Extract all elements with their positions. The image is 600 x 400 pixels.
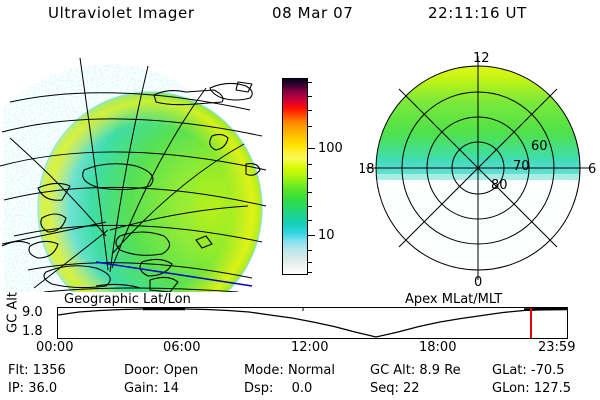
mlt-label-0: 0 (474, 275, 482, 290)
flt-value: 1356 (33, 363, 66, 378)
dsp-label: Dsp: (244, 381, 273, 396)
geographic-plot (0, 40, 268, 292)
seq-value: 22 (403, 381, 420, 396)
orbit-time-marker (530, 308, 532, 338)
orbit-xtick-1200: 12:00 (291, 341, 328, 354)
status-seq: Seq: 22 (370, 381, 420, 396)
colorbar-minor-tick (308, 110, 312, 111)
apex-polar-plot: 12 18 6 0 60 70 80 (360, 40, 600, 292)
glon-label: GLon: (492, 381, 530, 396)
mlt-label-12: 12 (473, 51, 490, 66)
orbit-ytick-low: 1.8 (22, 325, 43, 338)
glat-value: -70.5 (531, 363, 565, 378)
mlt-label-6: 6 (588, 162, 596, 177)
orbit-altitude-trace (58, 308, 567, 338)
mlat-label-80: 80 (491, 178, 508, 193)
status-glon: GLon: 127.5 (492, 381, 571, 396)
colorbar-label-100: 100 (318, 142, 343, 155)
door-label: Door: (124, 363, 159, 378)
flt-label: Flt: (8, 363, 29, 378)
geographic-image-panel[interactable] (0, 40, 268, 292)
ip-value: 36.0 (28, 381, 57, 396)
status-flight: Flt: 1356 (8, 363, 66, 378)
orbit-xtick-0600: 06:00 (163, 341, 200, 354)
observation-date: 08 Mar 07 (272, 4, 353, 22)
colorbar-tick-10 (308, 235, 315, 236)
orbit-ytick-high: 9.0 (22, 306, 43, 319)
door-value: Open (164, 363, 199, 378)
glon-value: 127.5 (534, 381, 571, 396)
colorbar-minor-tick (308, 192, 312, 193)
glat-label: GLat: (492, 363, 527, 378)
dsp-value: 0.0 (292, 381, 313, 396)
orbit-plot-box[interactable] (57, 307, 568, 339)
mode-label: Mode: (244, 363, 284, 378)
colorbar-minor-tick (308, 164, 312, 165)
colorbar-minor-tick (308, 220, 312, 221)
apex-panel-caption: Apex MLat/MLT (405, 292, 502, 307)
apex-mlt-spokes (366, 56, 590, 280)
orbit-track-region[interactable]: Geographic Lat/Lon Apex MLat/MLT GC Alt … (0, 292, 600, 354)
status-ip: IP: 36.0 (8, 381, 57, 396)
colorbar-gradient[interactable] (282, 78, 308, 275)
ip-label: IP: (8, 381, 24, 396)
seq-label: Seq: (370, 381, 399, 396)
colorbar-minor-tick (308, 206, 312, 207)
observation-time: 22:11:16 UT (428, 4, 527, 22)
apex-image-panel[interactable]: 12 18 6 0 60 70 80 (360, 40, 600, 292)
colorbar-minor-tick (308, 272, 312, 273)
gain-label: Gain: (124, 381, 158, 396)
colorbar-minor-tick (308, 82, 312, 83)
orbit-y-axis-label: GC Alt (6, 291, 21, 335)
mlat-label-70: 70 (513, 159, 530, 174)
colorbar-minor-tick (308, 250, 312, 251)
gcalt-label: GC Alt: (370, 363, 415, 378)
status-gain: Gain: 14 (124, 381, 179, 396)
mlt-label-18: 18 (360, 162, 375, 177)
orbit-xtick-1800: 18:00 (419, 341, 456, 354)
colorbar-tick-100 (308, 148, 315, 149)
colorbar-minor-tick (308, 178, 312, 179)
gcalt-value: 8.9 Re (419, 363, 460, 378)
mlat-label-60: 60 (531, 139, 548, 154)
status-dsp: Dsp: 0.0 (244, 381, 312, 396)
colorbar-minor-tick (308, 126, 312, 127)
status-panel: Flt: 1356 IP: 36.0 Door: Open Gain: 14 M… (0, 362, 600, 400)
mode-value: Normal (288, 363, 335, 378)
colorbar-label-10: 10 (318, 229, 335, 242)
orbit-xtick-2359: 23:59 (538, 341, 575, 354)
geographic-panel-caption: Geographic Lat/Lon (64, 292, 191, 307)
status-glat: GLat: -70.5 (492, 363, 565, 378)
status-gcalt: GC Alt: 8.9 Re (370, 363, 461, 378)
orbit-xtick-0000: 00:00 (36, 341, 73, 354)
instrument-title: Ultraviolet Imager (48, 4, 195, 22)
status-mode: Mode: Normal (244, 363, 335, 378)
header-bar: Ultraviolet Imager 08 Mar 07 22:11:16 UT (0, 4, 600, 30)
colorbar-panel: photon cm-2s-1 100 10 (268, 40, 360, 292)
colorbar-minor-tick (308, 262, 312, 263)
colorbar-minor-tick (308, 96, 312, 97)
gain-value: 14 (162, 381, 179, 396)
status-door: Door: Open (124, 363, 198, 378)
